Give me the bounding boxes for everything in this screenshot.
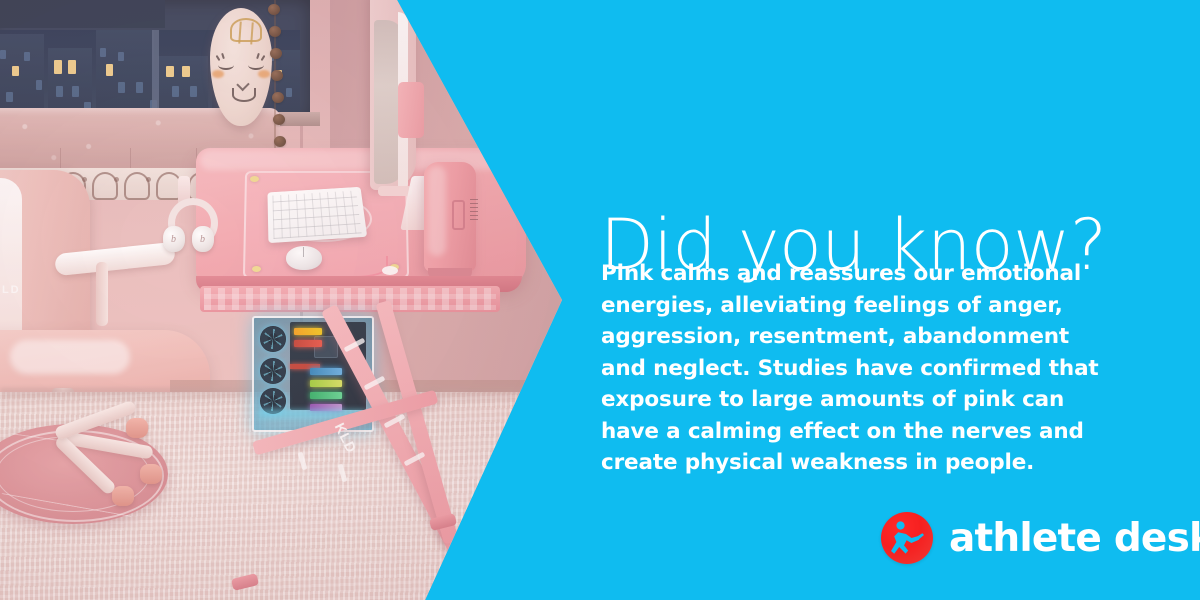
ram-stick — [310, 380, 342, 387]
bead — [274, 136, 286, 147]
bead — [270, 48, 282, 59]
ram-stick — [310, 392, 342, 399]
mouse-cable — [320, 256, 388, 278]
window-upper-dark-panel — [0, 0, 165, 28]
ram-stick — [294, 340, 322, 347]
bead — [269, 26, 281, 37]
computer-mouse — [286, 246, 322, 270]
banner-root: KLD — [0, 0, 1200, 600]
keyboard — [267, 187, 367, 243]
ram-stick — [294, 328, 322, 335]
ram-stick — [310, 368, 342, 375]
brand-logo[interactable]: athlete desk — [881, 512, 1200, 564]
chair-caster — [126, 418, 148, 438]
bead — [272, 92, 284, 103]
desk-front-lip — [200, 286, 500, 312]
bead — [271, 70, 283, 81]
brand-name: athlete desk — [949, 519, 1200, 558]
chair-caster — [112, 486, 134, 506]
content-panel: Did you know? Pink calms and reassures o… — [600, 0, 1200, 600]
running-person-icon — [881, 512, 933, 564]
headphone-brand-mark: b — [200, 234, 205, 245]
bead — [273, 114, 285, 125]
chair-caster — [140, 464, 162, 484]
bead — [268, 4, 280, 15]
body-paragraph: Pink calms and reassures our emotional e… — [601, 258, 1121, 479]
headphone-brand-mark: b — [171, 234, 176, 245]
chair-brand-label: KLD — [0, 284, 21, 296]
